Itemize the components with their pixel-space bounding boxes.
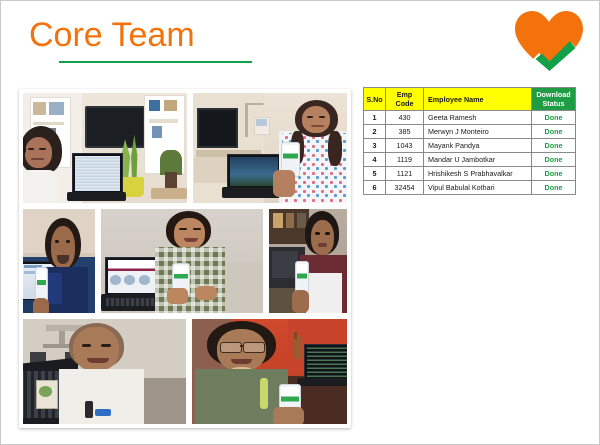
cell-code: 32454 <box>386 181 424 195</box>
photo-3 <box>22 208 96 313</box>
page-title: Core Team <box>29 15 195 55</box>
collage-row-3 <box>22 318 348 425</box>
cell-name: Mandar U Jambotkar <box>424 153 532 167</box>
cell-name: Geeta Ramesh <box>424 111 532 125</box>
slide-canvas: Core Team <box>0 0 600 445</box>
table-row: 5 1121 Hrishikesh S Prabhavalkar Done <box>364 167 576 181</box>
title-underline-rule <box>59 61 252 63</box>
status-badge: Done <box>532 181 576 195</box>
photo-2 <box>192 92 348 204</box>
cell-name: Mayank Pandya <box>424 139 532 153</box>
cell-sno: 6 <box>364 181 386 195</box>
column-header-code: Emp Code <box>386 88 424 111</box>
photo-4 <box>100 208 263 313</box>
cell-code: 430 <box>386 111 424 125</box>
table-row: 6 32454 Vipul Babulal Kothari Done <box>364 181 576 195</box>
column-header-sno: S.No <box>364 88 386 111</box>
collage-row-1 <box>22 92 348 204</box>
core-team-photo-collage <box>19 89 351 428</box>
cell-code: 1121 <box>386 167 424 181</box>
cell-name: Hrishikesh S Prabhavalkar <box>424 167 532 181</box>
status-badge: Done <box>532 153 576 167</box>
table-row: 2 385 Merwyn J Monteiro Done <box>364 125 576 139</box>
cell-name: Merwyn J Monteiro <box>424 125 532 139</box>
cell-code: 1043 <box>386 139 424 153</box>
column-header-download-status: Download Status <box>532 88 576 111</box>
cell-code: 385 <box>386 125 424 139</box>
status-badge: Done <box>532 111 576 125</box>
status-badge: Done <box>532 139 576 153</box>
column-header-name: Employee Name <box>424 88 532 111</box>
photo-6 <box>22 318 187 425</box>
table-row: 1 430 Geeta Ramesh Done <box>364 111 576 125</box>
table-row: 3 1043 Mayank Pandya Done <box>364 139 576 153</box>
table-row: 4 1119 Mandar U Jambotkar Done <box>364 153 576 167</box>
collage-row-2 <box>22 208 348 313</box>
table-body: 1 430 Geeta Ramesh Done 2 385 Merwyn J M… <box>364 111 576 195</box>
photo-7 <box>191 318 348 425</box>
cell-sno: 1 <box>364 111 386 125</box>
status-badge: Done <box>532 167 576 181</box>
cell-code: 1119 <box>386 153 424 167</box>
cell-name: Vipul Babulal Kothari <box>424 181 532 195</box>
cell-sno: 4 <box>364 153 386 167</box>
employee-download-status-table: S.No Emp Code Employee Name Download Sta… <box>363 87 575 195</box>
photo-1 <box>22 92 188 204</box>
cell-sno: 2 <box>364 125 386 139</box>
table-header-row: S.No Emp Code Employee Name Download Sta… <box>364 88 576 111</box>
status-badge: Done <box>532 125 576 139</box>
photo-5 <box>268 208 349 313</box>
cell-sno: 3 <box>364 139 386 153</box>
heart-with-checkmark-logo <box>513 9 585 75</box>
cell-sno: 5 <box>364 167 386 181</box>
